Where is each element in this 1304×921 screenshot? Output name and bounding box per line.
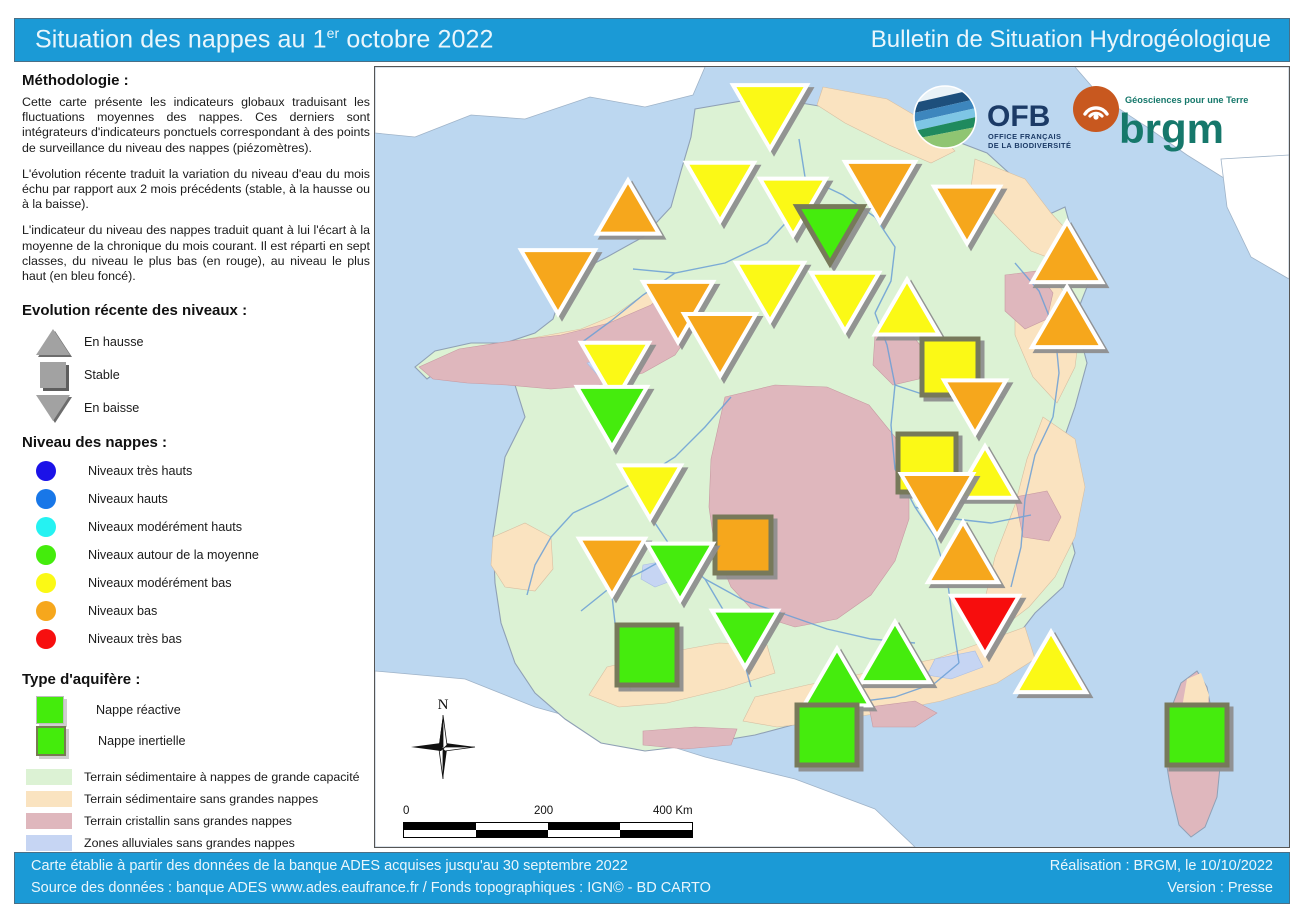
scale-tick-200: 200 [534, 805, 553, 817]
compass-north-label: N [438, 697, 449, 713]
level-legend-label: Niveaux très bas [88, 632, 182, 646]
footer-bar: Carte établie à partir des données de la… [14, 852, 1290, 904]
terrain-color-swatch-icon [26, 791, 72, 807]
map-marker[interactable] [617, 625, 677, 685]
marker-square-icon[interactable] [1167, 705, 1227, 765]
terrain-color-swatch-icon [26, 813, 72, 829]
levels-legend-list: Niveaux très hautsNiveaux hautsNiveaux m… [22, 457, 372, 653]
level-legend-label: Niveaux modérément hauts [88, 520, 242, 534]
level-color-dot-icon [36, 545, 56, 565]
terrain-color-swatch-icon [26, 769, 72, 785]
scale-tick-0: 0 [403, 805, 409, 817]
footer-version: Version : Presse [1167, 880, 1273, 896]
logo-group: OFB OFFICE FRANÇAIS DE LA BIODIVERSITÉ G… [911, 81, 1251, 161]
scale-bar-graphic [403, 822, 693, 838]
legend-panel: Méthodologie : Cette carte présente les … [14, 66, 372, 848]
level-legend-label: Niveaux bas [88, 604, 157, 618]
scale-bar: 0 200 400 Km [403, 805, 703, 847]
ofb-emblem-icon [914, 86, 976, 148]
aquifer-type-reactive: Nappe réactive [22, 694, 372, 725]
level-legend-item: Niveaux bas [22, 597, 372, 625]
header-subtitle: Bulletin de Situation Hydrogéologique [871, 26, 1271, 54]
evolution-heading: Evolution récente des niveaux : [22, 302, 372, 319]
map-frame[interactable]: OFB OFFICE FRANÇAIS DE LA BIODIVERSITÉ G… [374, 66, 1290, 848]
ofb-line2: DE LA BIODIVERSITÉ [988, 141, 1071, 150]
terrain-legend-label: Terrain sédimentaire à nappes de grande … [84, 770, 360, 784]
aquifer-label-inertielle: Nappe inertielle [98, 734, 186, 748]
level-legend-label: Niveaux hauts [88, 492, 168, 506]
triangle-down-icon [22, 395, 84, 421]
level-legend-item: Niveaux très hauts [22, 457, 372, 485]
page-title-post: octobre 2022 [339, 26, 493, 54]
level-legend-item: Niveaux hauts [22, 485, 372, 513]
marker-square-icon[interactable] [797, 705, 857, 765]
level-color-dot-icon [36, 629, 56, 649]
ofb-line1: OFFICE FRANÇAIS [988, 132, 1061, 141]
nappe-inertielle-swatch-icon [36, 726, 66, 756]
level-color-dot-icon [36, 601, 56, 621]
page-title: Situation des nappes au 1er octobre 2022 [35, 25, 493, 54]
level-color-dot-icon [36, 461, 56, 481]
evolution-label-stable: Stable [84, 368, 120, 382]
evolution-label-hausse: En hausse [84, 335, 144, 349]
marker-square-icon[interactable] [617, 625, 677, 685]
evolution-legend-item-stable: Stable [22, 358, 372, 391]
terrain-legend-label: Terrain cristallin sans grandes nappes [84, 814, 292, 828]
level-legend-item: Niveaux autour de la moyenne [22, 541, 372, 569]
square-icon [22, 362, 84, 388]
level-legend-item: Niveaux modérément hauts [22, 513, 372, 541]
marker-square-icon[interactable] [715, 517, 771, 573]
level-legend-label: Niveaux modérément bas [88, 576, 232, 590]
methodology-section: Méthodologie : Cette carte présente les … [22, 72, 372, 295]
aquifer-type-inertielle: Nappe inertielle [22, 725, 372, 756]
ofb-wordmark: OFB [987, 100, 1050, 133]
terrain-legend-item: Terrain cristallin sans grandes nappes [22, 810, 372, 832]
triangle-up-icon [22, 329, 84, 355]
page-title-pre: Situation des nappes au 1 [35, 26, 327, 54]
footer-realisation: Réalisation : BRGM, le 10/10/2022 [1050, 858, 1273, 874]
terrain-legend-item: Terrain sédimentaire sans grandes nappes [22, 788, 372, 810]
terrain-legend-list: Terrain sédimentaire à nappes de grande … [22, 766, 372, 854]
terrain-legend-item: Zones alluviales sans grandes nappes [22, 832, 372, 854]
methodology-paragraph-3: L'indicateur du niveau des nappes tradui… [22, 223, 370, 284]
map-marker[interactable] [797, 705, 857, 765]
levels-legend-section: Niveau des nappes : Niveaux très hautsNi… [22, 434, 372, 653]
methodology-paragraph-2: L'évolution récente traduit la variation… [22, 167, 370, 213]
page-title-ordinal: er [327, 25, 340, 41]
level-legend-label: Niveaux très hauts [88, 464, 192, 478]
aquifer-heading: Type d'aquifère : [22, 671, 372, 688]
aquifer-legend-section: Type d'aquifère : Nappe réactive Nappe i… [22, 671, 372, 854]
scale-tick-400: 400 Km [653, 805, 693, 817]
evolution-legend-item-hausse: En hausse [22, 325, 372, 358]
terrain-legend-label: Zones alluviales sans grandes nappes [84, 836, 295, 850]
brgm-tagline: Géosciences pour une Terre durable [1125, 95, 1251, 105]
header-bar: Situation des nappes au 1er octobre 2022… [14, 18, 1290, 62]
compass-rose: N [405, 695, 481, 783]
compass-needle-icon [411, 715, 475, 779]
terrain-legend-label: Terrain sédimentaire sans grandes nappes [84, 792, 318, 806]
map-marker[interactable] [715, 517, 771, 573]
footer-line-2: Source des données : banque ADES www.ade… [31, 880, 711, 896]
methodology-paragraph-1: Cette carte présente les indicateurs glo… [22, 95, 370, 156]
nappe-reactive-swatch-icon [36, 696, 64, 724]
methodology-heading: Méthodologie : [22, 72, 372, 89]
brgm-emblem-icon [1073, 86, 1119, 132]
level-color-dot-icon [36, 573, 56, 593]
evolution-label-baisse: En baisse [84, 401, 139, 415]
level-legend-item: Niveaux très bas [22, 625, 372, 653]
page-root: Situation des nappes au 1er octobre 2022… [0, 0, 1304, 921]
level-legend-label: Niveaux autour de la moyenne [88, 548, 259, 562]
level-color-dot-icon [36, 489, 56, 509]
terrain-color-swatch-icon [26, 835, 72, 851]
map-marker[interactable] [1167, 705, 1227, 765]
evolution-legend-section: Evolution récente des niveaux : En hauss… [22, 302, 372, 424]
level-legend-item: Niveaux modérément bas [22, 569, 372, 597]
evolution-legend-item-baisse: En baisse [22, 391, 372, 424]
level-color-dot-icon [36, 517, 56, 537]
map-canvas[interactable] [375, 67, 1289, 847]
footer-line-1: Carte établie à partir des données de la… [31, 858, 628, 874]
levels-heading: Niveau des nappes : [22, 434, 372, 451]
aquifer-label-reactive: Nappe réactive [96, 703, 181, 717]
terrain-legend-item: Terrain sédimentaire à nappes de grande … [22, 766, 372, 788]
brgm-wordmark: brgm [1119, 105, 1224, 152]
